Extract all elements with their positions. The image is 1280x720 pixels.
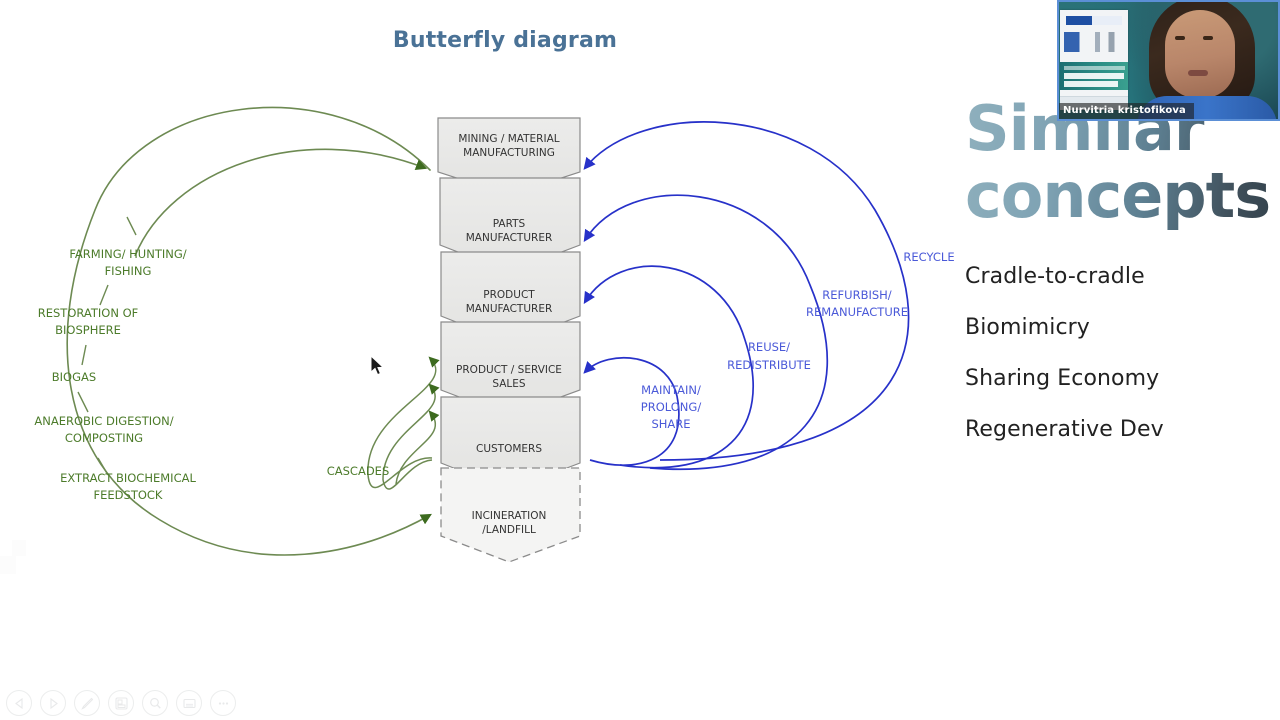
poster-title-line-2: [1064, 81, 1118, 87]
background-artifact: [12, 540, 26, 556]
poster-title-band: [1060, 62, 1128, 90]
list-item: Cradle-to-cradle: [965, 264, 1280, 289]
label-reuse-line1: REUSE/: [748, 340, 790, 354]
label-maintain-line3: SHARE: [651, 417, 690, 431]
chevron-mining-line2: MANUFACTURING: [463, 147, 555, 159]
refurbish-arc: [585, 195, 827, 469]
chevron-sales-line1: PRODUCT / SERVICE: [456, 364, 562, 376]
butterfly-diagram: MINING / MATERIAL MANUFACTURING PARTS MA…: [0, 60, 1010, 580]
next-triangle-icon: [47, 697, 60, 710]
presentation-slide: Butterfly diagram: [0, 0, 1280, 720]
label-cascades: CASCADES: [327, 464, 390, 478]
chevron-mining-line1: MINING / MATERIAL: [458, 133, 559, 145]
magnifier-icon: [148, 696, 163, 711]
technical-cycle-labels: MAINTAIN/ PROLONG/ SHARE REUSE/ REDISTRI…: [641, 250, 955, 431]
label-restoration-line1: RESTORATION OF: [38, 306, 139, 320]
participant-eye-left: [1175, 36, 1185, 40]
biological-cycle-labels: FARMING/ HUNTING/ FISHING RESTORATION OF…: [34, 247, 389, 502]
participant-eye-right: [1203, 36, 1213, 40]
label-reuse-line2: REDISTRIBUTE: [727, 358, 811, 372]
center-chevron-stack: MINING / MATERIAL MANUFACTURING PARTS MA…: [438, 118, 580, 562]
chevron-incineration-landfill: INCINERATION /LANDFILL: [441, 468, 580, 562]
layout-icon: [114, 696, 129, 711]
mouse-cursor-icon: [370, 355, 386, 377]
label-refurbish-line2: REMANUFACTURE: [806, 305, 908, 319]
label-recycle: RECYCLE: [903, 250, 954, 264]
biological-top-arrow: [135, 149, 425, 256]
chevron-parts-line2: MANUFACTURER: [466, 232, 553, 244]
more-options-icon: [216, 696, 231, 711]
webcam-video-tile[interactable]: Nurvitria kristofikova: [1057, 0, 1280, 121]
zoom-button[interactable]: [142, 690, 168, 716]
presentation-toolbar: [6, 690, 236, 716]
layout-view-button[interactable]: [108, 690, 134, 716]
chevron-product-line2: MANUFACTURER: [466, 303, 553, 315]
label-anaerobic-line2: COMPOSTING: [65, 431, 143, 445]
previous-slide-button[interactable]: [6, 690, 32, 716]
label-maintain-line2: PROLONG/: [641, 400, 702, 414]
list-item: Biomimicry: [965, 315, 1280, 340]
chevron-sales-line2: SALES: [492, 378, 526, 390]
label-refurbish-line1: REFURBISH/: [822, 288, 892, 302]
label-extract-line1: EXTRACT BIOCHEMICAL: [60, 471, 196, 485]
label-farming-line2: FISHING: [105, 264, 152, 278]
next-slide-button[interactable]: [40, 690, 66, 716]
pen-icon: [80, 696, 95, 711]
poster-webinar-badge: [1066, 16, 1122, 25]
notes-icon: [182, 696, 197, 711]
label-restoration-line2: BIOSPHERE: [55, 323, 121, 337]
participant-name-label: Nurvitria kristofikova: [1057, 103, 1194, 119]
label-farming-line1: FARMING/ HUNTING/: [69, 247, 186, 261]
label-biogas: BIOGAS: [52, 370, 96, 384]
participant-mouth: [1188, 70, 1208, 76]
list-item: Regenerative Dev: [965, 417, 1280, 442]
speaker-notes-button[interactable]: [176, 690, 202, 716]
participant-face: [1165, 10, 1235, 98]
label-maintain-line1: MAINTAIN/: [641, 383, 701, 397]
list-item: Sharing Economy: [965, 366, 1280, 391]
concepts-list: Cradle-to-cradle Biomimicry Sharing Econ…: [965, 264, 1280, 442]
chevron-parts-line1: PARTS: [493, 218, 526, 230]
label-extract-line2: FEEDSTOCK: [94, 488, 163, 502]
poster-title-line-1: [1064, 73, 1124, 79]
label-anaerobic-line1: ANAEROBIC DIGESTION/: [34, 414, 173, 428]
chevron-incineration-line1: INCINERATION: [472, 510, 547, 522]
chevron-customers-label: CUSTOMERS: [476, 443, 542, 455]
more-options-button[interactable]: [210, 690, 236, 716]
page-title: Butterfly diagram: [0, 28, 1010, 53]
background-artifact: [0, 556, 16, 574]
chevron-product-line1: PRODUCT: [483, 289, 535, 301]
poster-logos: [1064, 32, 1124, 52]
chevron-incineration-line2: /LANDFILL: [482, 524, 536, 536]
poster-subtitle-line: [1064, 66, 1125, 70]
pen-tool-button[interactable]: [74, 690, 100, 716]
previous-triangle-icon: [13, 697, 26, 710]
heading-line-2: concepts: [965, 163, 1280, 230]
background-poster: [1060, 10, 1128, 110]
similar-concepts-panel: Similar concepts Cradle-to-cradle Biomim…: [965, 96, 1280, 516]
